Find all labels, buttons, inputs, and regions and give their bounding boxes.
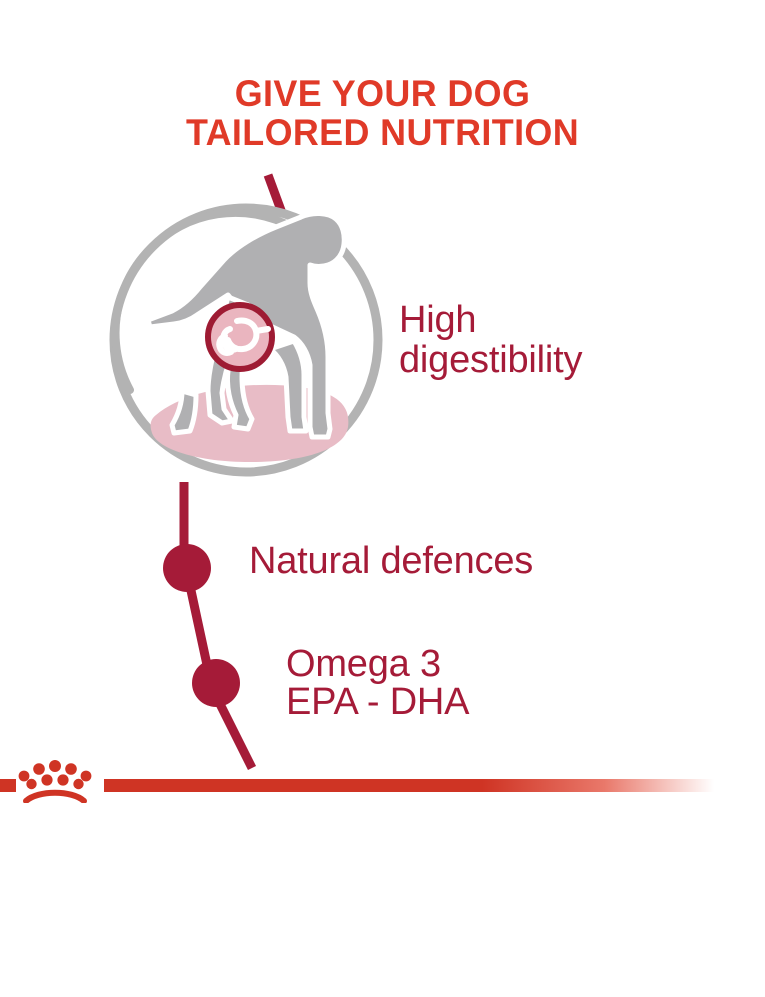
benefit-omega-line-2: EPA - DHA bbox=[286, 683, 469, 721]
highlight-circle bbox=[208, 305, 272, 369]
headline-line-2: TAILORED NUTRITION bbox=[11, 113, 753, 152]
dog-digestion-badge bbox=[96, 165, 396, 505]
brand-bar-right-segment bbox=[104, 779, 714, 792]
benefit-label-high-digestibility: High digestibility bbox=[399, 300, 582, 380]
brand-footer-bar bbox=[0, 775, 765, 797]
connector-node-2 bbox=[192, 659, 240, 707]
connector-path bbox=[184, 482, 252, 768]
benefit-label-omega-3: Omega 3 EPA - DHA bbox=[286, 645, 469, 721]
page-title: GIVE YOUR DOG TAILORED NUTRITION bbox=[11, 74, 753, 152]
benefit-natural-line-1: Natural defences bbox=[249, 540, 533, 582]
connector-node-1 bbox=[163, 544, 211, 592]
benefit-connector bbox=[140, 470, 320, 770]
digestion-highlight bbox=[208, 305, 272, 369]
headline-line-1: GIVE YOUR DOG bbox=[11, 74, 753, 113]
benefit-high-line-1: High bbox=[399, 300, 582, 340]
poster-canvas: GIVE YOUR DOG TAILORED NUTRITION bbox=[0, 0, 765, 997]
royal-canin-crown-icon bbox=[14, 751, 96, 803]
crown-base-arc bbox=[26, 793, 84, 801]
benefit-label-natural-defences: Natural defences bbox=[249, 540, 533, 582]
benefit-high-line-2: digestibility bbox=[399, 340, 582, 380]
benefit-omega-line-1: Omega 3 bbox=[286, 645, 469, 683]
